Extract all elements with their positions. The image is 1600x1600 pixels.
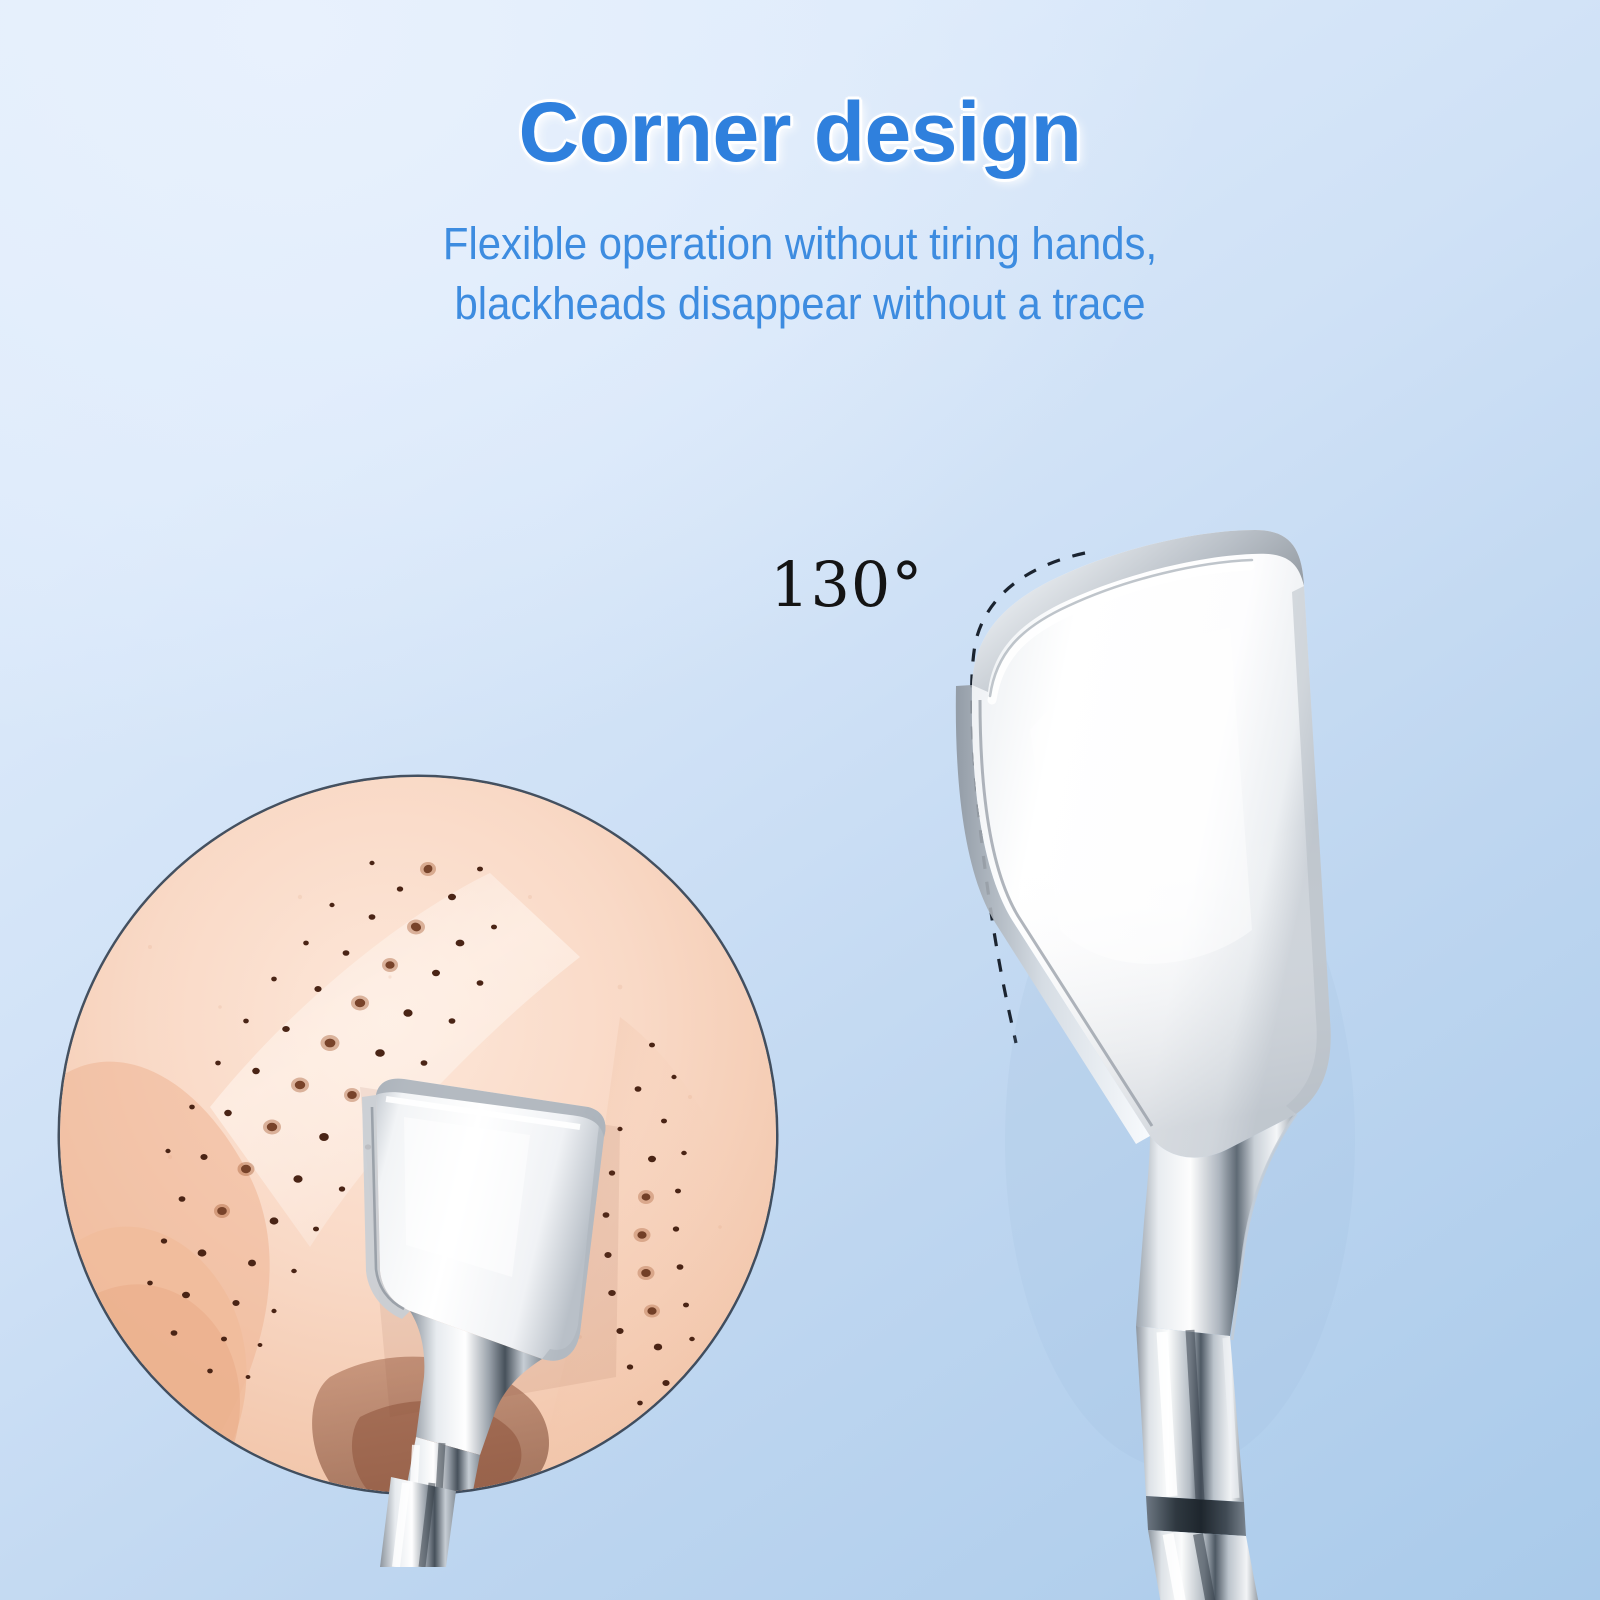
header-text-block: Corner design Flexible operation without… <box>0 0 1600 334</box>
nose-closeup-illustration <box>60 777 776 1493</box>
hero-tool-illustration <box>900 500 1460 1600</box>
nose-closeup-inset <box>60 777 776 1493</box>
subtitle-line-2: blackheads disappear without a trace <box>56 274 1544 334</box>
page-title: Corner design <box>0 0 1600 176</box>
subtitle-line-1: Flexible operation without tiring hands, <box>56 214 1544 274</box>
page-subtitle: Flexible operation without tiring hands,… <box>56 176 1544 334</box>
product-banner: Corner design Flexible operation without… <box>0 0 1600 1600</box>
